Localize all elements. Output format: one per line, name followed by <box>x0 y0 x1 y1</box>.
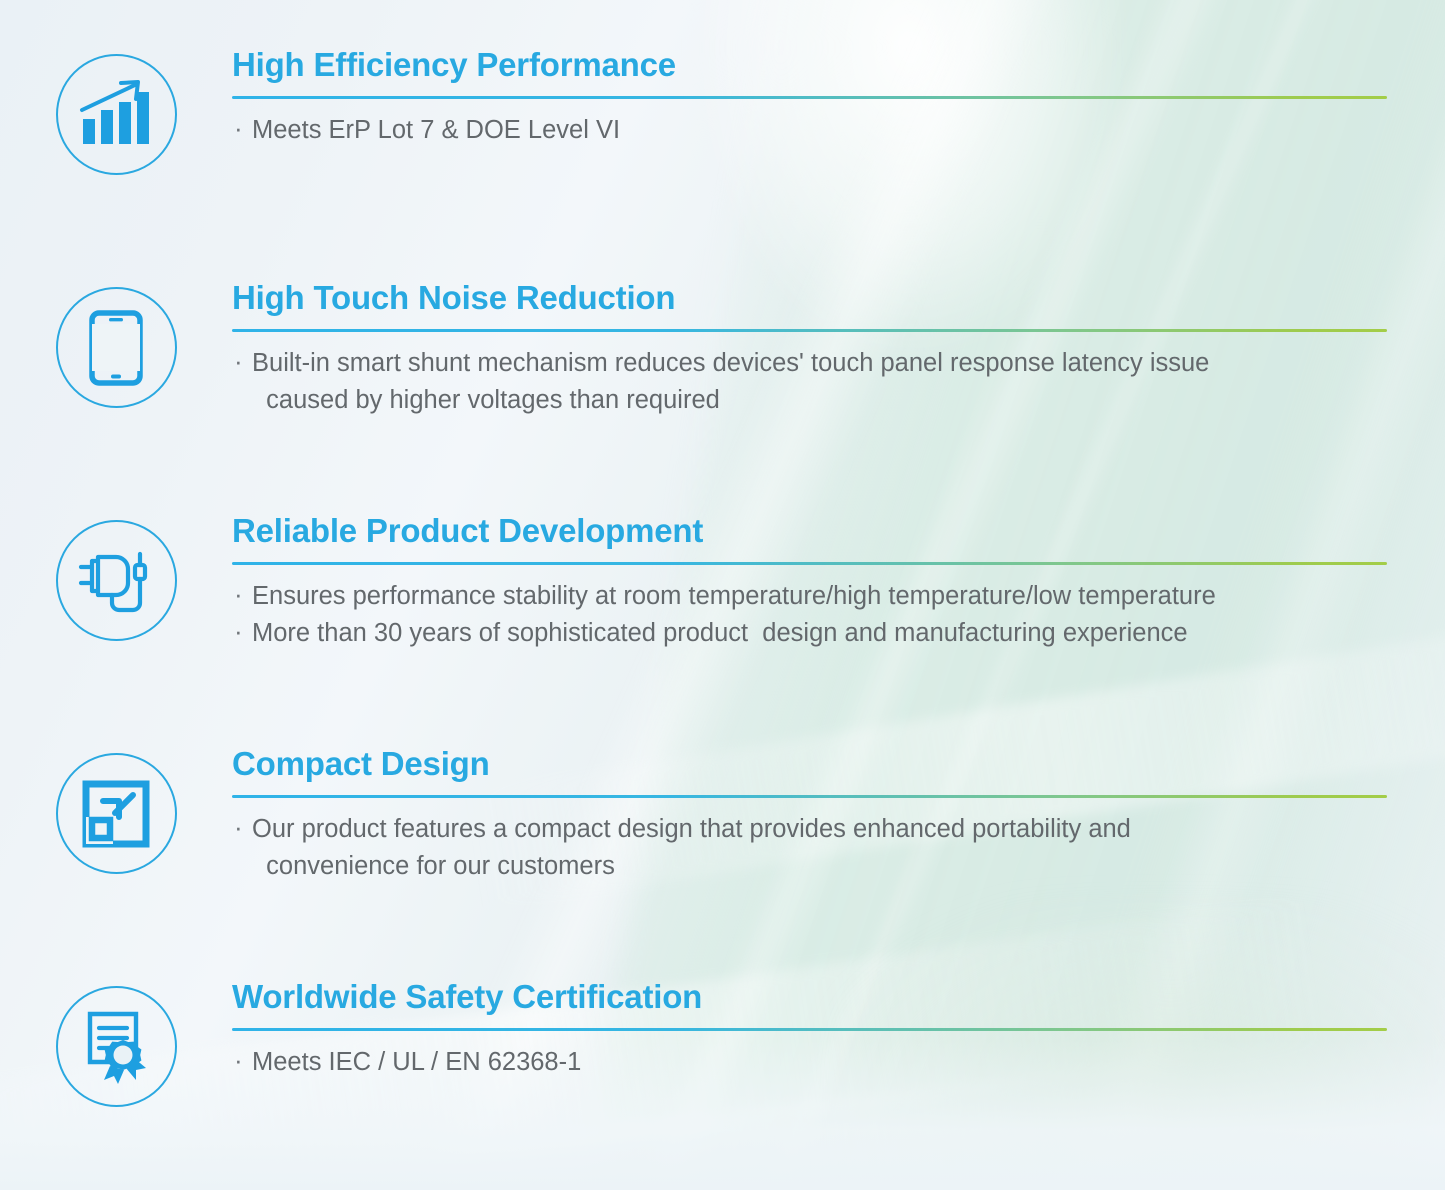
feature-item-reliable-product-development: Reliable Product Development Ensures per… <box>0 514 1445 652</box>
feature-item-high-touch-noise-reduction: High Touch Noise Reduction Built-in smar… <box>0 281 1445 419</box>
feature-bullets: Meets IEC / UL / EN 62368-1 <box>232 1044 1387 1081</box>
feature-bullets: Ensures performance stability at room te… <box>232 578 1387 652</box>
feature-divider <box>232 795 1387 798</box>
feature-icon-slot <box>0 514 232 641</box>
feature-title: Reliable Product Development <box>232 514 1387 549</box>
feature-icon-slot <box>0 281 232 408</box>
feature-title: Worldwide Safety Certification <box>232 980 1387 1015</box>
certificate-award-icon <box>56 986 177 1107</box>
feature-bullet: Built-in smart shunt mechanism reduces d… <box>232 345 1387 419</box>
feature-content: Compact Design Our product features a co… <box>232 747 1445 885</box>
feature-title: Compact Design <box>232 747 1387 782</box>
bar-chart-growth-icon <box>56 54 177 175</box>
feature-divider <box>232 96 1387 99</box>
feature-bullet: More than 30 years of sophisticated prod… <box>232 615 1387 652</box>
feature-item-compact-design: Compact Design Our product features a co… <box>0 747 1445 885</box>
feature-icon-slot <box>0 980 232 1107</box>
feature-bullets: Meets ErP Lot 7 & DOE Level VI <box>232 112 1387 149</box>
feature-bullets: Our product features a compact design th… <box>232 811 1387 885</box>
feature-item-high-efficiency-performance: High Efficiency Performance Meets ErP Lo… <box>0 48 1445 175</box>
feature-divider <box>232 1028 1387 1031</box>
power-adapter-icon <box>56 520 177 641</box>
smartphone-icon <box>56 287 177 408</box>
compact-resize-icon <box>56 753 177 874</box>
feature-content: High Efficiency Performance Meets ErP Lo… <box>232 48 1445 149</box>
feature-content: Reliable Product Development Ensures per… <box>232 514 1445 652</box>
feature-divider <box>232 329 1387 332</box>
feature-item-worldwide-safety-certification: Worldwide Safety Certification Meets IEC… <box>0 980 1445 1107</box>
feature-bullet: Meets IEC / UL / EN 62368-1 <box>232 1044 1387 1081</box>
feature-title: High Efficiency Performance <box>232 48 1387 83</box>
feature-content: High Touch Noise Reduction Built-in smar… <box>232 281 1445 419</box>
feature-bullets: Built-in smart shunt mechanism reduces d… <box>232 345 1387 419</box>
feature-bullet: Meets ErP Lot 7 & DOE Level VI <box>232 112 1387 149</box>
feature-icon-slot <box>0 747 232 874</box>
feature-title: High Touch Noise Reduction <box>232 281 1387 316</box>
feature-divider <box>232 562 1387 565</box>
feature-content: Worldwide Safety Certification Meets IEC… <box>232 980 1445 1081</box>
feature-bullet: Our product features a compact design th… <box>232 811 1387 885</box>
feature-bullet: Ensures performance stability at room te… <box>232 578 1387 615</box>
feature-highlights-page: High Efficiency Performance Meets ErP Lo… <box>0 0 1445 1190</box>
feature-icon-slot <box>0 48 232 175</box>
